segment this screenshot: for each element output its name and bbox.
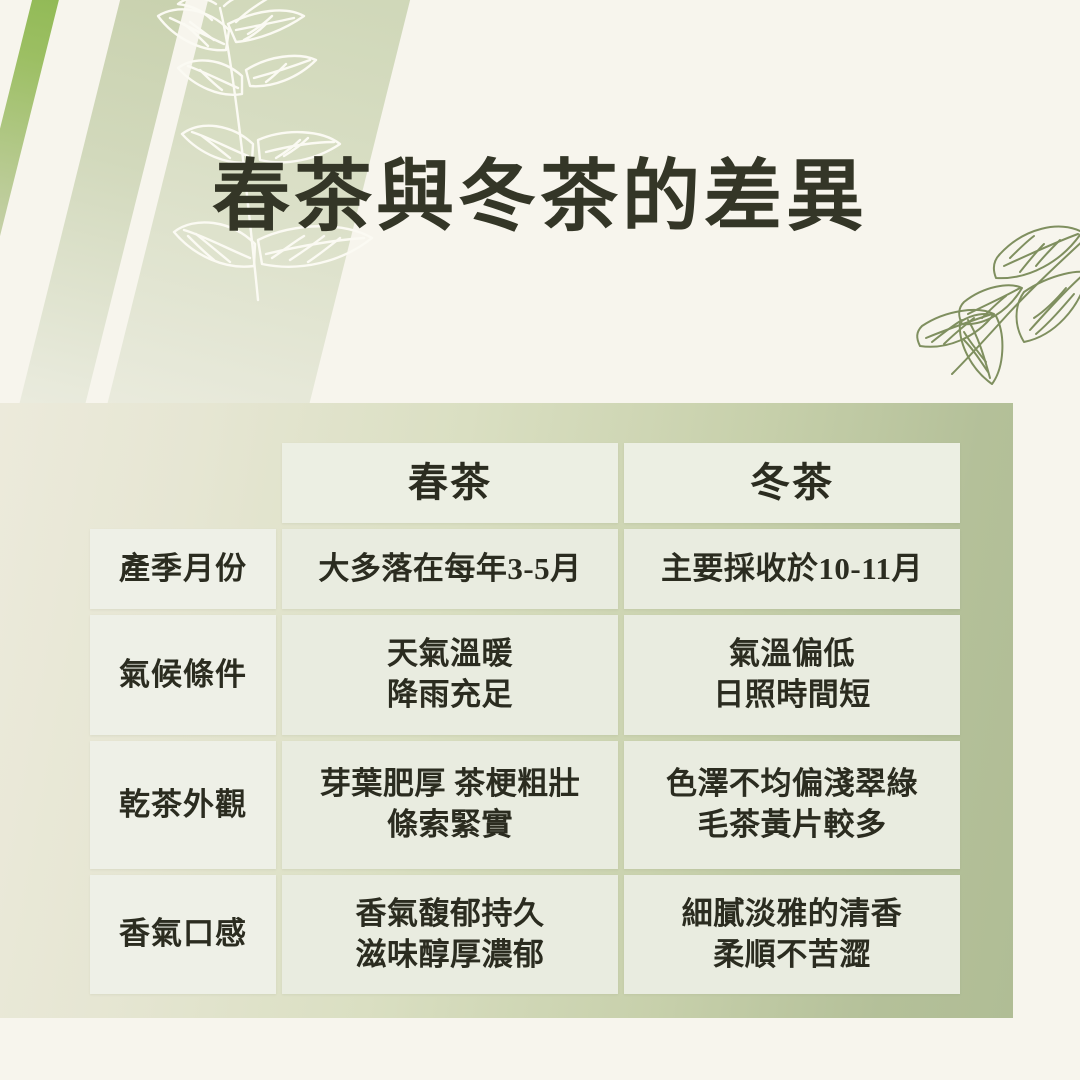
cell-spring-climate: 天氣溫暖 降雨充足 (282, 615, 618, 735)
cell-line: 氣溫偏低 (713, 634, 871, 675)
cell-spring-dry-leaf-appearance: 芽葉肥厚 茶梗粗壯 條索緊實 (282, 741, 618, 869)
top-right-tea-leaf-branch-icon (900, 218, 1080, 398)
cell-line: 大多落在每年3-5月 (318, 549, 581, 590)
cell-line: 芽葉肥厚 茶梗粗壯 (320, 764, 580, 805)
cell-line: 條索緊實 (320, 805, 580, 846)
poster-canvas: 春茶與冬茶的差異 春茶 冬茶 產季月份 大多落在每年3-5月 主要採收於10-1… (0, 0, 1080, 1080)
cell-line: 香氣馥郁持久 (356, 894, 545, 935)
cell-line: 滋味醇厚濃郁 (356, 935, 545, 976)
column-header-spring: 春茶 (282, 443, 618, 523)
row-label-harvest-months: 產季月份 (90, 529, 276, 609)
row-label-aroma-taste: 香氣口感 (90, 875, 276, 994)
comparison-table: 春茶 冬茶 產季月份 大多落在每年3-5月 主要採收於10-11月 氣候條件 天… (90, 443, 956, 994)
cell-line: 毛茶黃片較多 (666, 805, 918, 846)
row-label-climate: 氣候條件 (90, 615, 276, 735)
cell-line: 細膩淡雅的清香 (682, 894, 903, 935)
cell-winter-dry-leaf-appearance: 色澤不均偏淺翠綠 毛茶黃片較多 (624, 741, 960, 869)
table-corner-cell (90, 443, 276, 523)
cell-winter-climate: 氣溫偏低 日照時間短 (624, 615, 960, 735)
cell-line: 柔順不苦澀 (682, 935, 903, 976)
page-title: 春茶與冬茶的差異 (0, 158, 1080, 236)
cell-line: 降雨充足 (387, 675, 513, 716)
cell-winter-harvest-months: 主要採收於10-11月 (624, 529, 960, 609)
cell-line: 色澤不均偏淺翠綠 (666, 764, 918, 805)
cell-line: 天氣溫暖 (387, 634, 513, 675)
cell-spring-aroma-taste: 香氣馥郁持久 滋味醇厚濃郁 (282, 875, 618, 994)
row-label-dry-leaf-appearance: 乾茶外觀 (90, 741, 276, 869)
column-header-winter: 冬茶 (624, 443, 960, 523)
cell-winter-aroma-taste: 細膩淡雅的清香 柔順不苦澀 (624, 875, 960, 994)
cell-spring-harvest-months: 大多落在每年3-5月 (282, 529, 618, 609)
cell-line: 主要採收於10-11月 (661, 549, 923, 590)
cell-line: 日照時間短 (713, 675, 871, 716)
